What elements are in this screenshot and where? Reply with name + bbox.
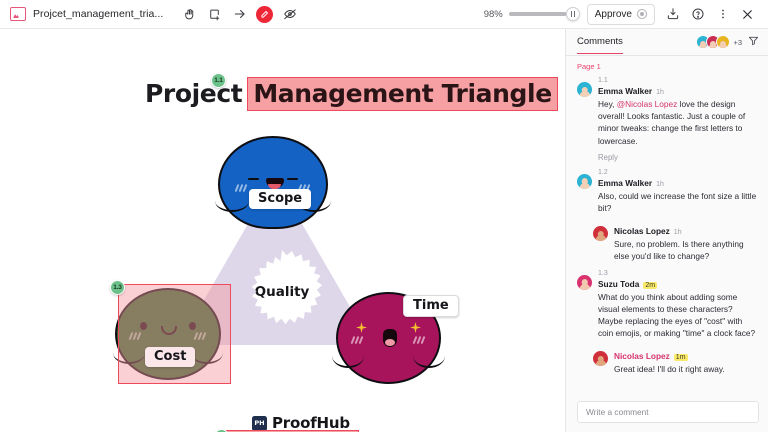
comment-author: Emma Walker (598, 86, 652, 96)
avatar (577, 82, 592, 97)
top-toolbar: Projcet_management_tria... (0, 0, 768, 29)
comment-number: 1.3 (598, 269, 759, 279)
cost-selection-markup[interactable] (118, 284, 231, 384)
comment-timestamp: 1h (656, 181, 664, 188)
image-file-icon (10, 7, 26, 21)
pen-markup-tool[interactable] (252, 3, 277, 25)
avatar (577, 174, 592, 189)
zoom-control[interactable]: 98% (482, 9, 577, 20)
node-scope[interactable] (218, 136, 328, 229)
list-item[interactable]: Nicolas Lopez 1m Great idea! I'll do it … (593, 345, 759, 375)
comment-thread[interactable]: Page 1 1.1 Emma Walker 1h Hey, @Nicolas … (566, 56, 768, 401)
comment-composer-placeholder: Write a comment (586, 407, 649, 417)
comment-number: 1.1 (598, 76, 759, 86)
list-item[interactable]: 1.2 Emma Walker 1h Also, could we increa… (577, 168, 759, 214)
share-icon[interactable] (660, 3, 685, 25)
approve-button[interactable]: Approve (587, 4, 655, 25)
scope-character (218, 136, 328, 229)
filter-icon[interactable] (748, 33, 759, 51)
app-body: Project Management Triangle 1.1 1.3 (0, 29, 768, 432)
help-icon[interactable] (685, 3, 710, 25)
add-frame-tool[interactable] (202, 3, 227, 25)
comment-author: Suzu Toda (598, 279, 639, 289)
collaborator-avatars[interactable]: +3 (696, 33, 759, 51)
comment-body: Great idea! I'll do it right away. (614, 363, 759, 375)
node-label-scope: Scope (249, 189, 311, 209)
node-label-time: Time (403, 295, 459, 317)
zoom-slider-handle[interactable] (566, 7, 580, 21)
comments-panel-header: Comments +3 (566, 29, 768, 56)
comment-timestamp: 1h (656, 89, 664, 96)
comment-author: Nicolas Lopez (614, 351, 670, 361)
proofing-app: Projcet_management_tria... (0, 0, 768, 432)
avatar (593, 226, 608, 241)
list-item[interactable]: 1.1 Emma Walker 1h Hey, @Nicolas Lopez l… (577, 76, 759, 147)
node-label-cost: Cost (145, 347, 195, 367)
avatar (577, 275, 592, 290)
approve-label: Approve (595, 9, 632, 20)
document-canvas[interactable]: Project Management Triangle 1.1 1.3 (0, 29, 565, 432)
annotation-badge-1-3[interactable]: 1.3 (110, 280, 125, 295)
page-title: Project Management Triangle (145, 77, 558, 111)
comment-composer[interactable]: Write a comment (577, 401, 759, 423)
comments-panel: Comments +3 Page 1 (565, 29, 768, 432)
toolbar-right-group: 98% Approve (482, 3, 760, 25)
reply-button[interactable]: Reply (598, 153, 759, 162)
comment-text-before: Hey, (598, 99, 617, 109)
comment-timestamp: 1m (674, 354, 688, 361)
zoom-percent: 98% (482, 9, 503, 20)
close-icon[interactable] (735, 3, 760, 25)
comment-body: What do you think about adding some visu… (598, 291, 759, 340)
annotation-badge-1-1[interactable]: 1.1 (211, 73, 226, 88)
toolbar-left-group: Projcet_management_tria... (8, 7, 163, 21)
comment-mention[interactable]: @Nicolas Lopez (617, 99, 678, 109)
toolbar-tools (177, 3, 302, 25)
comment-body: Also, could we increase the font size a … (598, 190, 759, 214)
comment-timestamp: 1h (674, 229, 682, 236)
artboard: Project Management Triangle 1.1 1.3 (0, 29, 565, 432)
pen-icon (256, 6, 273, 23)
arrow-tool[interactable] (227, 3, 252, 25)
zoom-slider-fill (509, 12, 566, 16)
comment-body: Hey, @Nicolas Lopez love the design over… (598, 98, 759, 147)
file-title: Projcet_management_tria... (33, 8, 163, 20)
quality-label: Quality (255, 284, 310, 300)
title-highlight-markup[interactable]: Management Triangle (247, 77, 557, 111)
proofhub-mark-icon: PH (252, 416, 267, 431)
avatar-overflow-count: +3 (733, 38, 742, 47)
avatar (593, 351, 608, 366)
hide-markups-tool[interactable] (277, 3, 302, 25)
more-options-icon[interactable] (710, 3, 735, 25)
tab-comments[interactable]: Comments (577, 36, 623, 54)
avatar (716, 35, 730, 49)
comment-author: Emma Walker (598, 178, 652, 188)
comment-author: Nicolas Lopez (614, 226, 670, 236)
comment-timestamp: 2m (643, 282, 657, 289)
list-item[interactable]: Nicolas Lopez 1h Sure, no problem. Is th… (593, 220, 759, 262)
page-label: Page 1 (577, 62, 759, 71)
approve-status-icon (637, 9, 647, 19)
title-word-project: Project (145, 79, 242, 108)
zoom-slider-track[interactable] (509, 12, 577, 16)
comment-body: Sure, no problem. Is there anything else… (614, 238, 759, 262)
comment-number: 1.2 (598, 168, 759, 178)
hand-pointer-tool[interactable] (177, 3, 202, 25)
list-item[interactable]: 1.3 Suzu Toda 2m What do you think about… (577, 269, 759, 340)
